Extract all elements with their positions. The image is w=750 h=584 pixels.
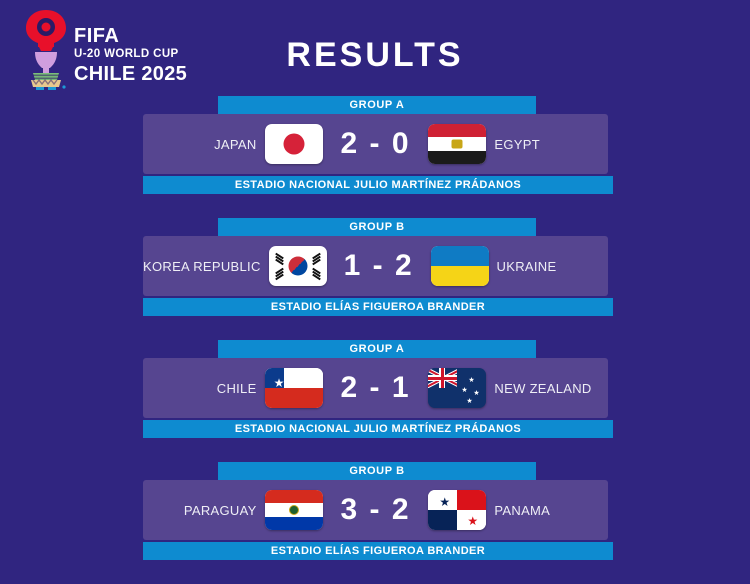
home-score: 3 (340, 493, 359, 526)
home-score: 2 (340, 371, 359, 404)
score: 3 - 2 (323, 493, 429, 527)
home-team-name: CHILE (143, 381, 265, 396)
score-separator: - (369, 493, 381, 526)
score-separator: - (373, 249, 385, 282)
score: 1 - 2 (327, 249, 431, 283)
away-team-name: PANAMA (486, 503, 608, 518)
away-score: 0 (392, 127, 411, 160)
results-list: GROUP A JAPAN 2 - 0 EGYPT ESTADIO NACION… (0, 96, 750, 584)
home-team-name: JAPAN (143, 137, 265, 152)
score-separator: - (369, 127, 381, 160)
match-scoreline: PARAGUAY 3 - 2 ★★ PANAMA (143, 480, 608, 540)
away-score: 1 (392, 371, 411, 404)
home-score: 1 (344, 249, 363, 282)
home-score: 2 (340, 127, 359, 160)
score: 2 - 1 (323, 371, 429, 405)
away-team-name: EGYPT (486, 137, 608, 152)
home-team-name: KOREA REPUBLIC (143, 259, 269, 274)
flag-egypt (428, 124, 486, 164)
stadium-label: ESTADIO NACIONAL JULIO MARTÍNEZ PRÁDANOS (143, 420, 613, 438)
flag-japan (265, 124, 323, 164)
group-label: GROUP B (218, 218, 536, 236)
flag-new-zealand: ★ ★ ★ ★ (428, 368, 486, 408)
group-label: GROUP B (218, 462, 536, 480)
home-team-name: PARAGUAY (143, 503, 265, 518)
match-scoreline: KOREA REPUBLIC 1 - 2 (143, 236, 608, 296)
page-header: FIFA U-20 WORLD CUP CHILE 2025 RESULTS (0, 0, 750, 96)
away-team-name: NEW ZEALAND (486, 381, 608, 396)
match-card[interactable]: GROUP B PARAGUAY 3 - 2 ★★ PANAMA ESTADIO… (0, 462, 750, 580)
stadium-label: ESTADIO ELÍAS FIGUEROA BRANDER (143, 542, 613, 560)
match-scoreline: CHILE ★ 2 - 1 (143, 358, 608, 418)
away-score: 2 (392, 493, 411, 526)
flag-chile: ★ (265, 368, 323, 408)
flag-ukraine (431, 246, 489, 286)
match-scoreline: JAPAN 2 - 0 EGYPT (143, 114, 608, 174)
flag-korea-republic (269, 246, 327, 286)
stadium-label: ESTADIO ELÍAS FIGUEROA BRANDER (143, 298, 613, 316)
stadium-label: ESTADIO NACIONAL JULIO MARTÍNEZ PRÁDANOS (143, 176, 613, 194)
flag-paraguay (265, 490, 323, 530)
match-card[interactable]: GROUP A CHILE ★ 2 - 1 (0, 340, 750, 458)
group-label: GROUP A (218, 96, 536, 114)
page-title: RESULTS (0, 36, 750, 75)
score-separator: - (369, 371, 381, 404)
away-score: 2 (395, 249, 414, 282)
score: 2 - 0 (323, 127, 429, 161)
flag-panama: ★★ (428, 490, 486, 530)
match-card[interactable]: GROUP B KOREA REPUBLIC 1 - (0, 218, 750, 336)
away-team-name: UKRAINE (489, 259, 608, 274)
match-card[interactable]: GROUP A JAPAN 2 - 0 EGYPT ESTADIO NACION… (0, 96, 750, 214)
group-label: GROUP A (218, 340, 536, 358)
